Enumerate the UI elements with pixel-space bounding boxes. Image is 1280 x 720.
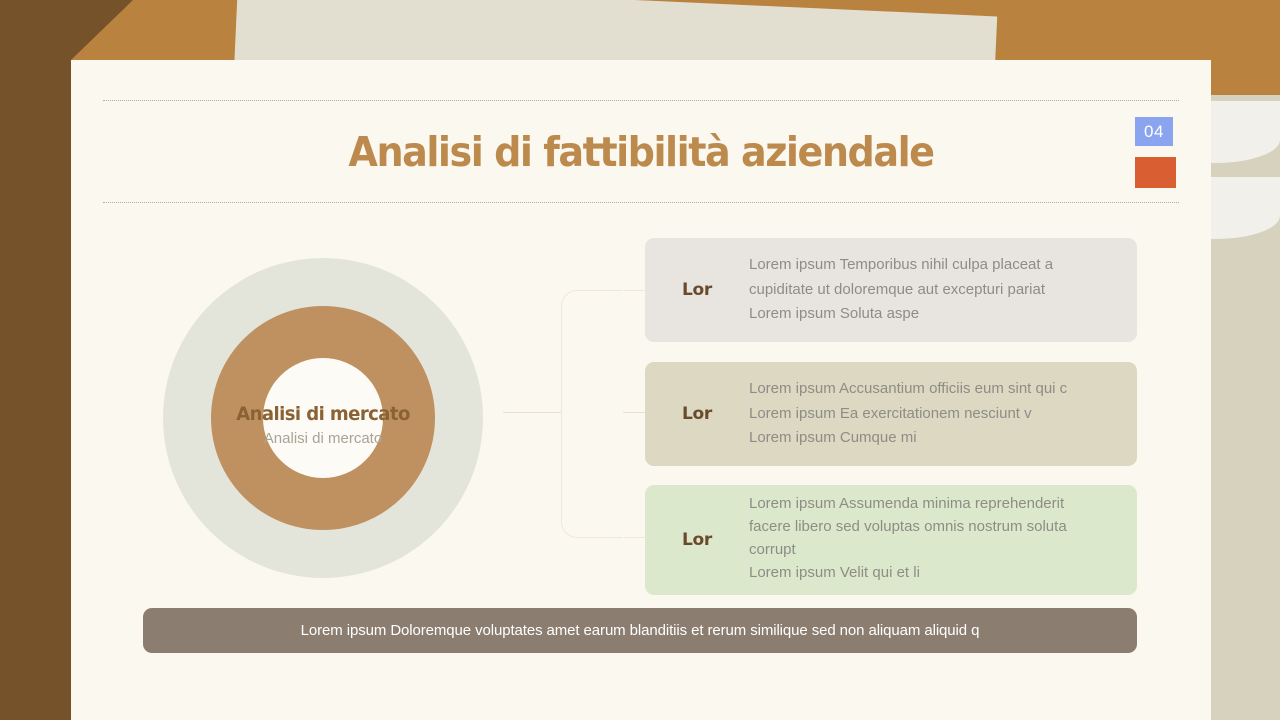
donut-chart: Analisi di mercato Analisi di mercato [163,258,483,578]
slide-canvas: Analisi di fattibilità aziendale 04 Anal… [0,0,1280,720]
divider-top [103,100,1179,101]
donut-label-bold: Analisi di mercato [144,403,501,425]
footer-text: Lorem ipsum Doloremque voluptates amet e… [301,622,980,639]
footer-banner[interactable]: Lorem ipsum Doloremque voluptates amet e… [143,608,1137,653]
content-card-2[interactable]: Lor Lorem ipsum Accusantium officiis eum… [645,362,1137,466]
content-card-3[interactable]: Lor Lorem ipsum Assumenda minima reprehe… [645,485,1137,595]
content-card-1[interactable]: Lor Lorem ipsum Temporibus nihil culpa p… [645,238,1137,342]
card-body-1: Lorem ipsum Temporibus nihil culpa place… [749,253,1137,327]
card-line: Lorem ipsum Accusantium officiis eum sin… [749,377,1119,402]
slide-card: Analisi di fattibilità aziendale 04 Anal… [71,60,1211,720]
card-line: cupiditate ut doloremque aut excepturi p… [749,278,1119,303]
card-tag-2: Lor [645,404,749,424]
accent-color-swatch [1135,157,1176,188]
page-title: Analisi di fattibilità aziendale [111,128,1171,176]
page-number-badge: 04 [1135,117,1173,146]
background-left-panel [0,0,71,720]
card-line: corrupt [749,539,1119,562]
background-left-fold [71,0,133,60]
card-body-3: Lorem ipsum Assumenda minima reprehender… [749,493,1137,584]
card-line: Lorem ipsum Assumenda minima reprehender… [749,493,1119,516]
card-line: Lorem ipsum Velit qui et li [749,562,1119,585]
card-body-2: Lorem ipsum Accusantium officiis eum sin… [749,377,1137,451]
connector-stub [503,412,561,413]
donut-label-sub: Analisi di mercato [163,430,483,447]
divider-bottom [103,202,1179,203]
card-line: Lorem ipsum Cumque mi [749,426,1119,451]
card-tag-3: Lor [645,530,749,550]
card-line: Lorem ipsum Soluta aspe [749,302,1119,327]
card-line: Lorem ipsum Temporibus nihil culpa place… [749,253,1119,278]
card-line: facere libero sed voluptas omnis nostrum… [749,516,1119,539]
card-line: Lorem ipsum Ea exercitationem nesciunt v [749,402,1119,427]
card-tag-1: Lor [645,280,749,300]
connector-bracket [561,290,623,538]
